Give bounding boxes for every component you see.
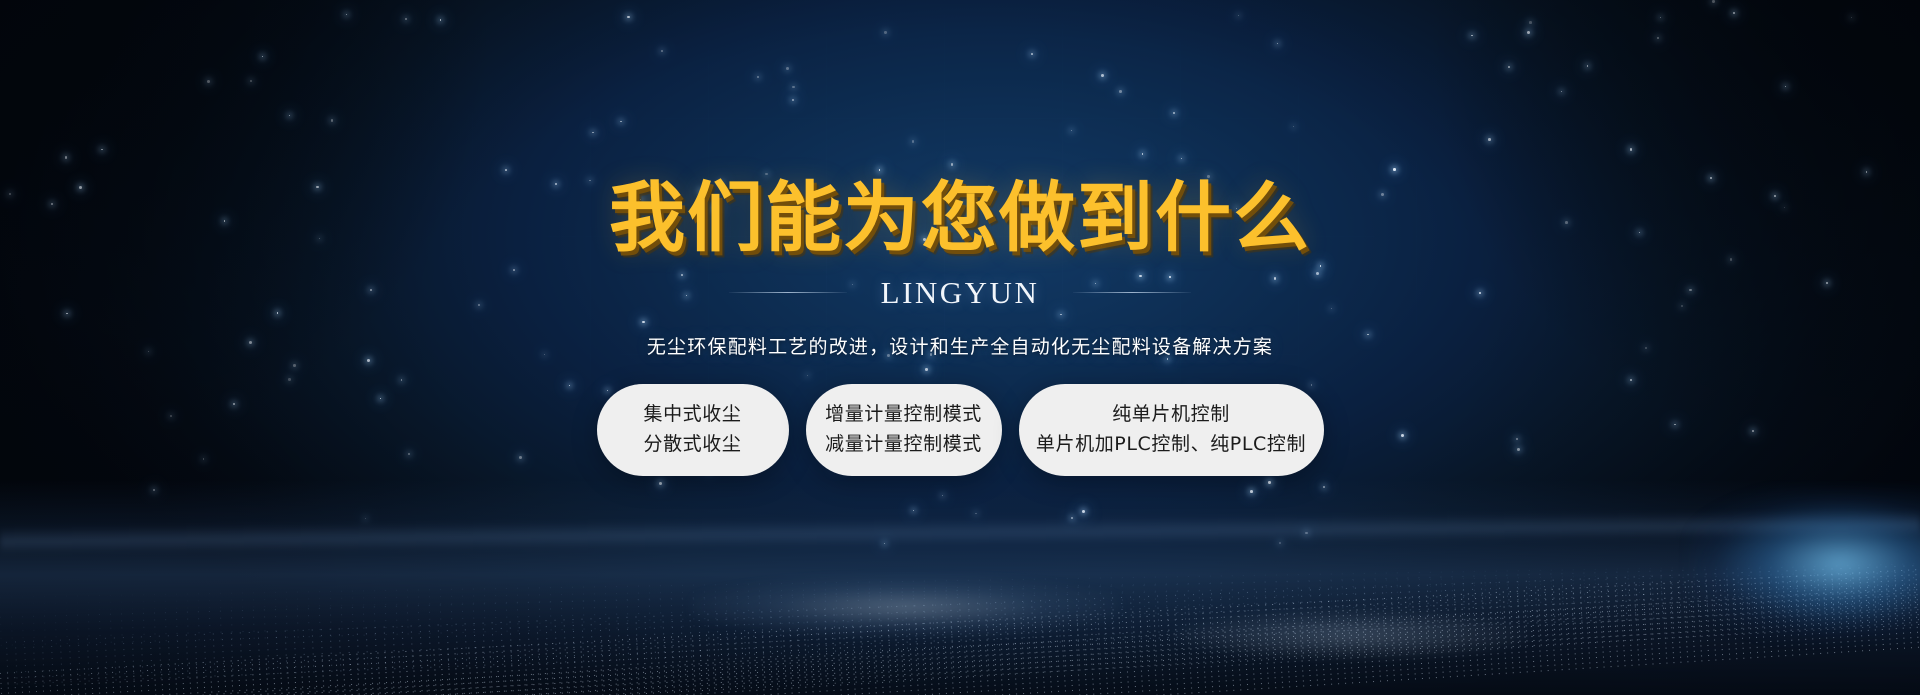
- brand-divider-row: LINGYUN: [729, 275, 1192, 311]
- feature-card-line-2: 分散式收尘: [643, 435, 741, 454]
- feature-card[interactable]: 纯单片机控制 单片机加PLC控制、纯PLC控制: [1019, 384, 1324, 476]
- banner-content: 我们能为您做到什么 LINGYUN 无尘环保配料工艺的改进，设计和生产全自动化无…: [0, 0, 1920, 695]
- feature-card-line-1: 纯单片机控制: [1112, 405, 1230, 424]
- feature-card-line-1: 增量计量控制模式: [825, 405, 982, 424]
- tagline: 无尘环保配料工艺的改进，设计和生产全自动化无尘配料设备解决方案: [647, 332, 1273, 359]
- feature-card[interactable]: 增量计量控制模式 减量计量控制模式: [806, 384, 1002, 476]
- hero-banner: 我们能为您做到什么 LINGYUN 无尘环保配料工艺的改进，设计和生产全自动化无…: [0, 0, 1920, 695]
- page-title: 我们能为您做到什么: [609, 178, 1311, 259]
- feature-card[interactable]: 集中式收尘 分散式收尘: [597, 384, 789, 476]
- divider-line-left: [729, 292, 847, 293]
- feature-card-line-1: 集中式收尘: [643, 405, 741, 424]
- brand-name: LINGYUN: [881, 275, 1040, 311]
- feature-card-line-2: 减量计量控制模式: [825, 435, 982, 454]
- divider-line-right: [1073, 292, 1191, 293]
- feature-card-line-2: 单片机加PLC控制、纯PLC控制: [1036, 435, 1306, 454]
- feature-card-list: 集中式收尘 分散式收尘 增量计量控制模式 减量计量控制模式 纯单片机控制 单片机…: [597, 384, 1324, 476]
